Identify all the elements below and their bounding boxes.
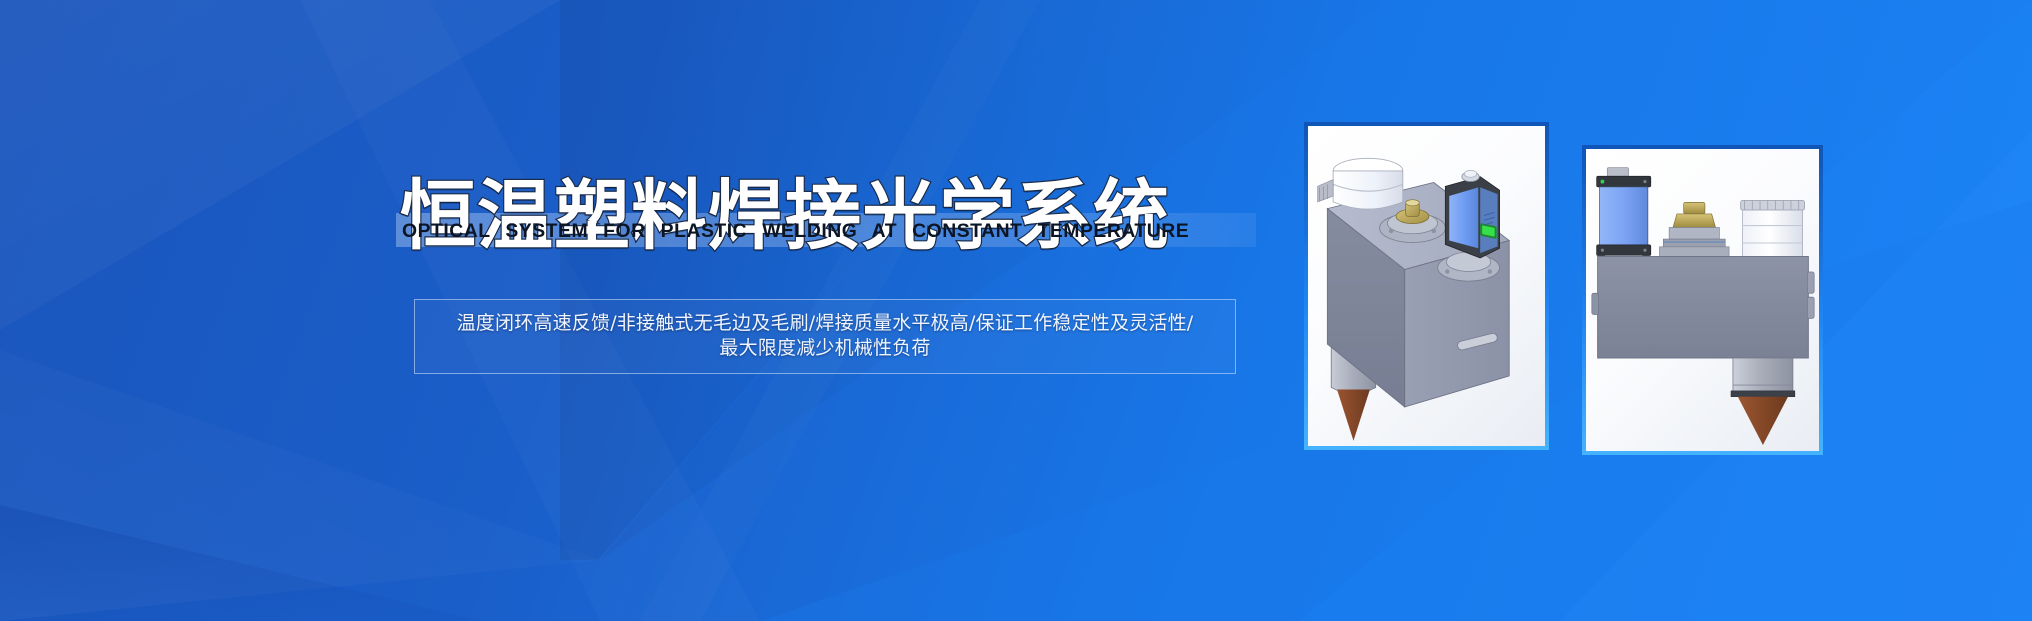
product-photo-isometric [1308,126,1545,446]
headline-block: 恒温塑料焊接光学系统 OPTICAL SYSTEM FOR PLASTIC WE… [400,185,1250,263]
product-image-frame-isometric [1304,122,1549,450]
feature-line-1: 温度闭环高速反馈/非接触式无毛边及毛刷/焊接质量水平极高/保证工作稳定性及灵活性… [433,311,1217,336]
product-photo-front [1586,149,1819,451]
title-wrapper: 恒温塑料焊接光学系统 OPTICAL SYSTEM FOR PLASTIC WE… [400,185,1250,263]
feature-callout-box: 温度闭环高速反馈/非接触式无毛边及毛刷/焊接质量水平极高/保证工作稳定性及灵活性… [414,299,1236,374]
feature-line-2: 最大限度减少机械性负荷 [433,336,1217,361]
page-title-english: OPTICAL SYSTEM FOR PLASTIC WELDING AT CO… [402,221,1259,243]
promo-banner: 恒温塑料焊接光学系统 OPTICAL SYSTEM FOR PLASTIC WE… [0,0,2032,621]
page-title: 恒温塑料焊接光学系统 [400,177,1170,255]
product-image-frame-front [1582,145,1823,455]
